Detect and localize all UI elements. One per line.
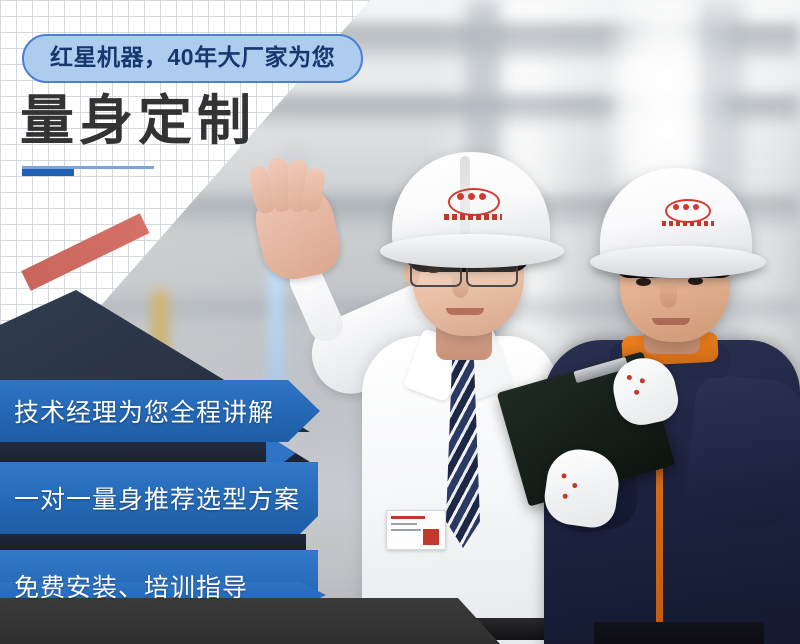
- bar-separator: [0, 534, 306, 550]
- page-title: 量身定制: [20, 92, 256, 151]
- feature-item-1: 技术经理为您全程讲解: [0, 380, 420, 442]
- bottom-charcoal-band: [0, 598, 500, 644]
- feature-list: 技术经理为您全程讲解 一对一量身推荐选型方案 免费安装、培训指导: [0, 380, 420, 626]
- bar-separator: [0, 442, 310, 462]
- feature-label: 免费安装、培训指导: [0, 568, 248, 604]
- tagline-badge: 红星机器，40年大厂家为您: [22, 34, 363, 83]
- feature-item-2: 一对一量身推荐选型方案: [0, 462, 420, 534]
- feature-label: 一对一量身推荐选型方案: [0, 480, 300, 516]
- feature-label: 技术经理为您全程讲解: [0, 393, 274, 429]
- chevron-tip-icon: [266, 442, 310, 462]
- title-underline-dark: [22, 169, 74, 176]
- promo-banner: 红星机器，40年大厂家为您 量身定制 技术经理为您全程讲解 一对一量身推荐选型方…: [0, 0, 800, 644]
